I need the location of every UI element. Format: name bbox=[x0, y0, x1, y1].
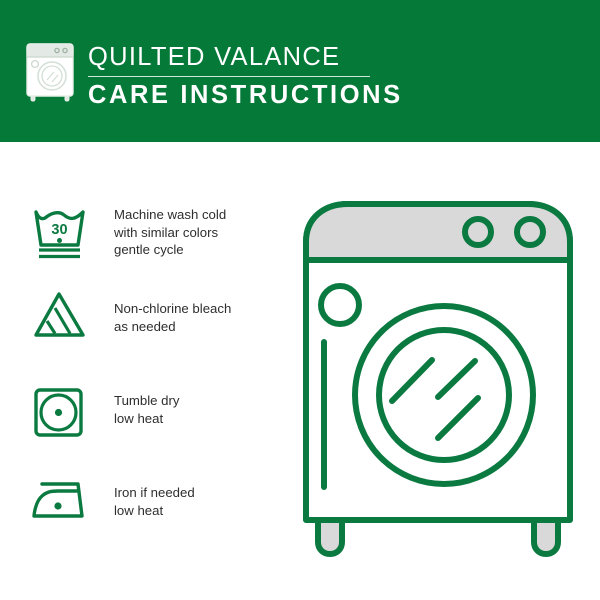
wash-dot-icon bbox=[57, 238, 62, 243]
care-symbol-list: 30 Machine wash cold with similar colors… bbox=[0, 142, 290, 600]
care-line: Iron if needed bbox=[114, 484, 195, 502]
page-title-primary: QUILTED VALANCE bbox=[88, 42, 568, 72]
care-line: low heat bbox=[114, 502, 195, 520]
care-row-tumble-dry: Tumble dry low heat bbox=[0, 380, 290, 442]
header-title-group: QUILTED VALANCE CARE INSTRUCTIONS bbox=[88, 42, 568, 110]
care-text-bleach: Non-chlorine bleach as needed bbox=[114, 300, 231, 335]
care-line: gentle cycle bbox=[114, 241, 226, 259]
care-row-iron: Iron if needed low heat bbox=[0, 470, 290, 532]
care-text-tumble-dry: Tumble dry low heat bbox=[114, 392, 179, 427]
washing-machine-icon bbox=[24, 42, 76, 102]
washing-machine-illustration bbox=[292, 190, 584, 570]
care-line: Non-chlorine bleach bbox=[114, 300, 231, 318]
care-row-wash: 30 Machine wash cold with similar colors… bbox=[0, 200, 290, 262]
triangle-bleach-symbol bbox=[28, 285, 100, 347]
care-line: Tumble dry bbox=[114, 392, 179, 410]
care-line: as needed bbox=[114, 318, 231, 336]
care-row-bleach: Non-chlorine bleach as needed bbox=[0, 285, 290, 347]
care-line: with similar colors bbox=[114, 224, 226, 242]
wash-tub-symbol: 30 bbox=[28, 200, 100, 262]
care-line: Machine wash cold bbox=[114, 206, 226, 224]
machine-foot bbox=[318, 520, 342, 554]
care-text-wash: Machine wash cold with similar colors ge… bbox=[114, 206, 226, 259]
iron-heat-dot-icon bbox=[54, 502, 61, 509]
care-text-iron: Iron if needed low heat bbox=[114, 484, 195, 519]
care-line: low heat bbox=[114, 410, 179, 428]
header-banner: QUILTED VALANCE CARE INSTRUCTIONS bbox=[0, 0, 600, 142]
title-divider bbox=[88, 76, 370, 77]
machine-foot bbox=[534, 520, 558, 554]
dry-heat-dot-icon bbox=[55, 409, 62, 416]
iron-symbol bbox=[28, 470, 100, 532]
page-title-secondary: CARE INSTRUCTIONS bbox=[88, 80, 568, 110]
care-instructions-card: QUILTED VALANCE CARE INSTRUCTIONS 30 Mac… bbox=[0, 0, 600, 600]
machine-control-panel bbox=[306, 204, 570, 260]
tumble-dry-symbol bbox=[28, 380, 100, 442]
wash-temperature-value: 30 bbox=[51, 222, 67, 238]
